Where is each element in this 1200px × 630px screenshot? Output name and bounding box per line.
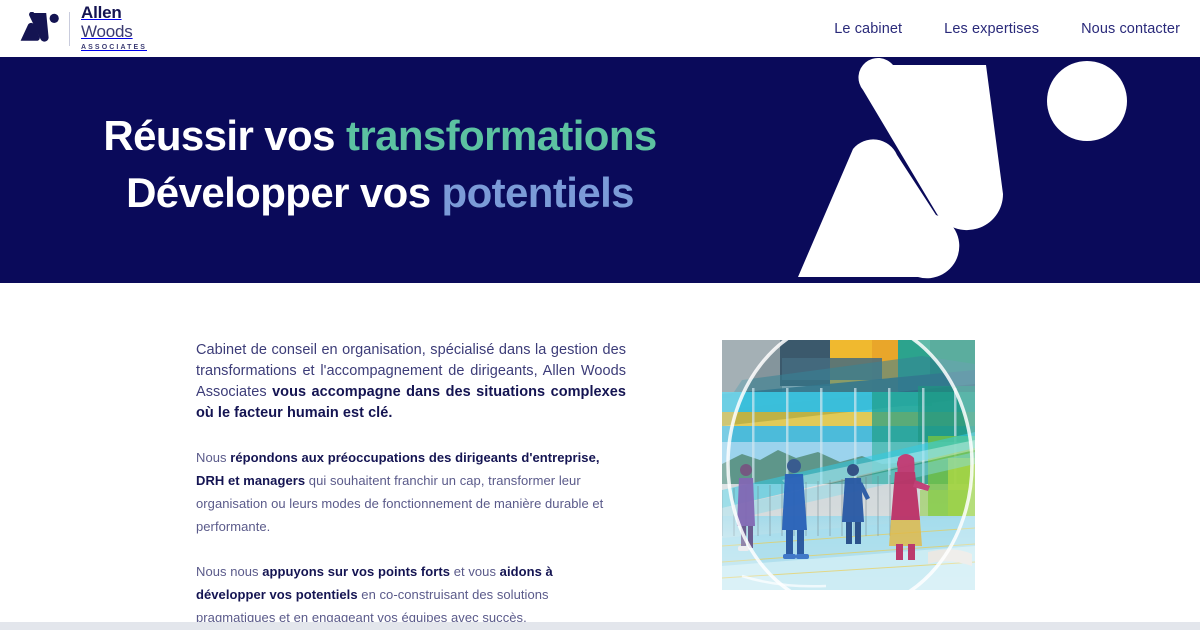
intro-paragraph-3: Nous nous appuyons sur vos points forts … xyxy=(196,560,626,629)
hero-headline-line-1: Réussir vos transformations xyxy=(0,107,760,164)
main-content: Cabinet de conseil en organisation, spéc… xyxy=(0,283,1200,622)
brand-logo-link[interactable]: Allen Woods ASSOCIATES xyxy=(18,6,147,52)
brand-line-associates: ASSOCIATES xyxy=(81,43,147,53)
allen-woods-monogram-icon xyxy=(18,12,60,46)
hero-headline-line-2: Développer vos potentiels xyxy=(0,164,760,221)
brand-line-allen: Allen xyxy=(81,4,147,21)
site-header: Allen Woods ASSOCIATES Le cabinet Les ex… xyxy=(0,0,1200,57)
main-navigation: Le cabinet Les expertises Nous contacter xyxy=(834,21,1180,37)
intro-paragraph-2: Nous répondons aux préoccupations des di… xyxy=(196,446,626,538)
hero-line1-accent: transformations xyxy=(346,112,657,159)
nav-item-le-cabinet[interactable]: Le cabinet xyxy=(834,21,902,37)
p3-bold1: appuyons sur vos points forts xyxy=(262,564,450,579)
p3-part2: et vous xyxy=(450,564,500,579)
p3-part1: Nous nous xyxy=(196,564,262,579)
intro-copy-column: Cabinet de conseil en organisation, spéc… xyxy=(196,340,626,629)
hero-line2-accent: potentiels xyxy=(442,169,634,216)
hero-line2-plain: Développer vos xyxy=(126,169,441,216)
p2-part1: Nous xyxy=(196,450,230,465)
intro-lead-paragraph: Cabinet de conseil en organisation, spéc… xyxy=(196,340,626,424)
hero-banner: Réussir vos transformations Développer v… xyxy=(0,57,1200,283)
nav-item-nous-contacter[interactable]: Nous contacter xyxy=(1081,21,1180,37)
nav-item-les-expertises[interactable]: Les expertises xyxy=(944,21,1039,37)
brand-line-woods: Woods xyxy=(81,22,147,41)
page-bottom-rule xyxy=(0,622,1200,630)
brand-wordmark: Allen Woods ASSOCIATES xyxy=(81,4,147,53)
hero-headline: Réussir vos transformations Développer v… xyxy=(0,107,760,221)
allen-woods-monogram-large-icon xyxy=(790,57,1182,283)
hero-line1-plain: Réussir vos xyxy=(103,112,346,159)
colorful-glass-pavilion-photo xyxy=(722,340,975,590)
brand-divider xyxy=(69,12,70,46)
